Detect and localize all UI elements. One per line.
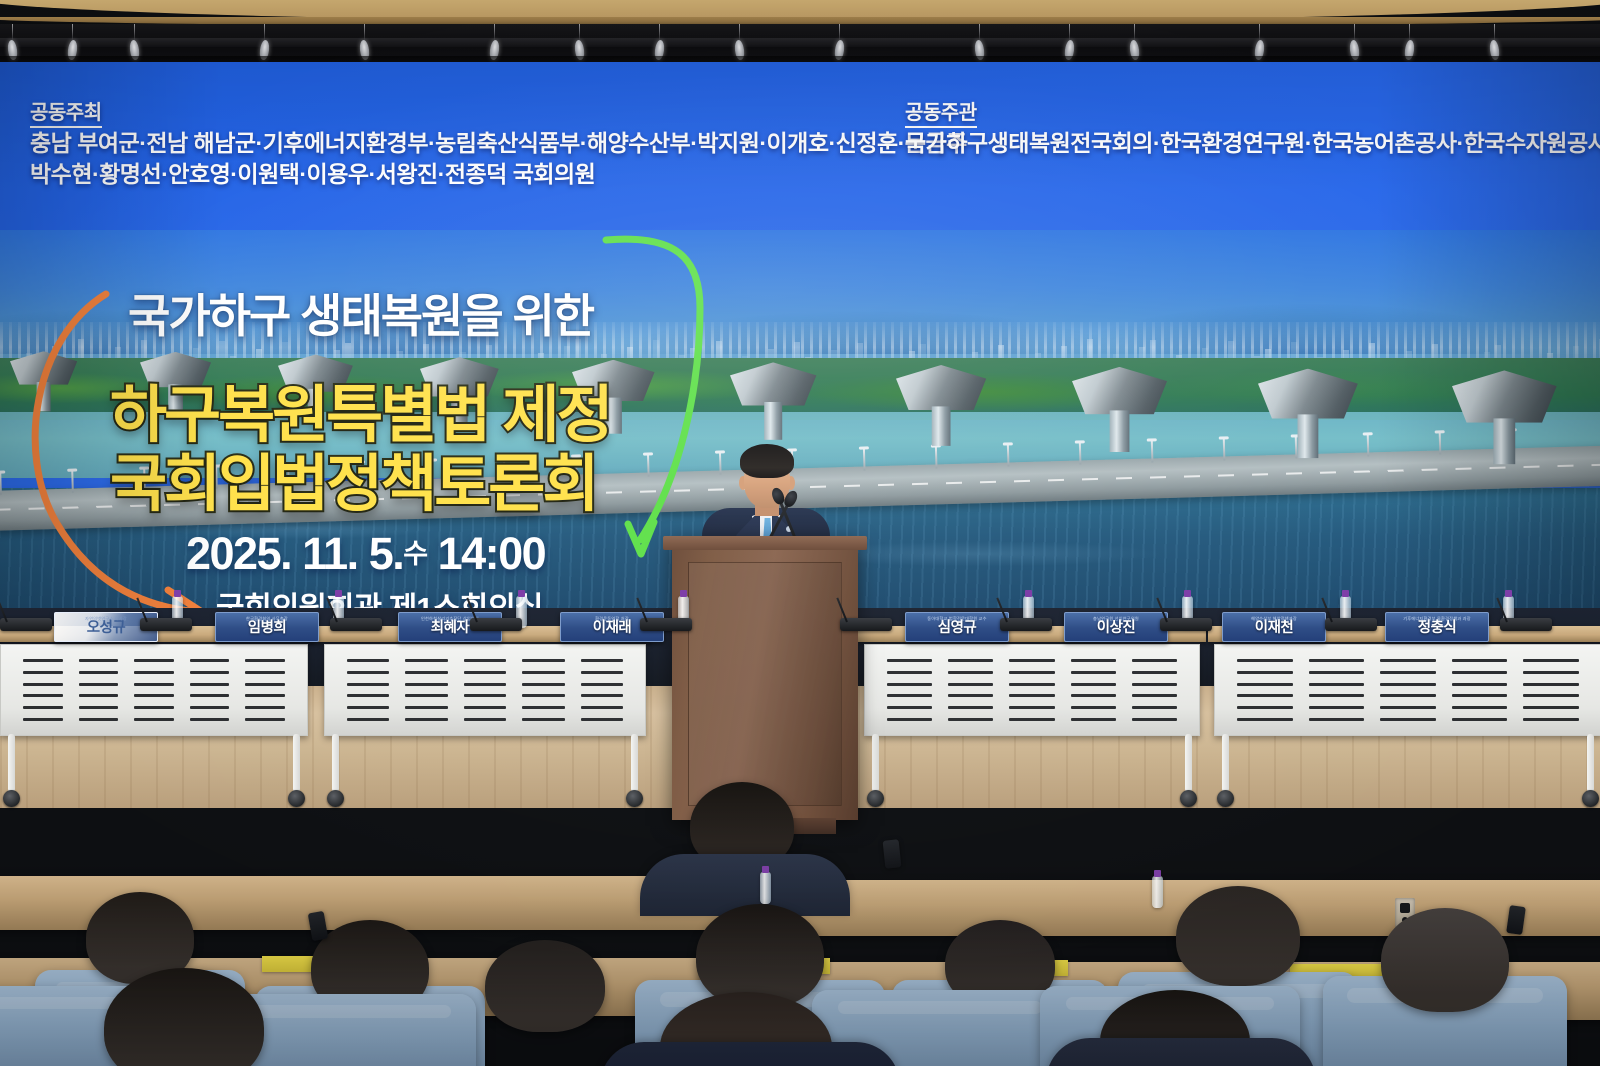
panel-slot-column — [887, 659, 932, 721]
desk-microphone — [140, 618, 192, 631]
slide-title-line-1: 하구복원특별법 제정 — [110, 381, 611, 450]
nameplate-6: 충남연구원 선임연구위원이상진 — [1064, 612, 1168, 642]
rig-wire — [579, 24, 580, 40]
nameplate-name: 이재래 — [593, 621, 632, 636]
nameplate-name: 정충식 — [1418, 621, 1457, 636]
podium-front-panel — [688, 562, 842, 806]
desk-microphone — [470, 618, 522, 631]
host-line-2: 박수현·황명선·안호영·이원택·이용우·서왕진·전종덕 국회의원 — [30, 159, 967, 190]
desk-microphone — [0, 618, 52, 631]
audience-head — [1176, 886, 1300, 986]
desk-microphone — [840, 618, 892, 631]
panel-slot-column — [1237, 659, 1293, 721]
nameplate-org: 동아대학교 법학전문대학원 교수 — [927, 617, 986, 621]
nameplate-org: 해양수산부 해양정책과장 — [1251, 617, 1297, 621]
speaker-hair — [740, 444, 794, 478]
slide-title-line-2: 국회입법정책토론회 — [110, 453, 611, 516]
nameplate-2: 한국환경회의 사무총장임병희 — [215, 612, 319, 642]
audience-head — [485, 940, 605, 1032]
panel-slot-column — [1523, 659, 1579, 721]
panel-slot-column — [347, 659, 389, 721]
desk-microphone — [1500, 618, 1552, 631]
audience-water-bottle — [1152, 876, 1163, 908]
panel-slot-column — [1071, 659, 1116, 721]
audience-area — [0, 780, 1600, 1066]
rig-wire — [1134, 24, 1135, 40]
host-label: 공동주최 — [30, 102, 102, 128]
panel-slot-column — [522, 659, 564, 721]
panel-slot-column — [1309, 659, 1365, 721]
desk-modesty-panel — [324, 644, 646, 736]
rig-wire — [739, 24, 740, 40]
panel-slot-column — [134, 659, 174, 721]
rig-wire — [1259, 24, 1260, 40]
audience-shoulders-front — [1046, 1038, 1316, 1066]
panel-slot-column — [1132, 659, 1177, 721]
nameplate-name: 심영규 — [938, 621, 977, 636]
rig-wire — [839, 24, 840, 40]
nameplate-8: 기후에너지환경부 물환경정책과 과장정충식 — [1385, 612, 1489, 642]
nameplate-org: 자연의벗연구소 이사장 — [85, 617, 127, 621]
host-line-1: 충남 부여군·전남 해남군·기후에너지환경부·농림축산식품부·해양수산부·박지원… — [30, 128, 967, 159]
panel-slot-column — [1009, 659, 1054, 721]
nameplate-name: 임병희 — [248, 621, 287, 636]
podium-top-lip — [663, 536, 867, 550]
slide-datetime: 2025. 11. 5.수 14:00 — [186, 528, 545, 580]
nameplate-org: 환경운동연합 처장 — [595, 617, 629, 621]
slide-time: 14:00 — [438, 528, 546, 579]
desk-microphone — [640, 618, 692, 631]
rig-wire — [364, 24, 365, 40]
audience-phone — [883, 839, 902, 869]
desk-microphone — [1325, 618, 1377, 631]
rig-wire — [1494, 24, 1495, 40]
slide-venue: 국회의원회관 제1소회의실 — [216, 583, 543, 608]
rig-wire — [12, 24, 13, 40]
panel-slot-column — [405, 659, 447, 721]
organizer-label: 공동주관 — [905, 102, 977, 128]
desk-modesty-panel — [0, 644, 308, 736]
organizer-block: 공동주관 국가하구생태복원전국회의·한국환경연구원·한국농어촌공사·한국수자원공… — [905, 102, 1600, 159]
panel-slot-column — [190, 659, 230, 721]
panel-slot-column — [245, 659, 285, 721]
audience-water-bottle — [760, 872, 771, 904]
panel-slot-column — [1452, 659, 1508, 721]
rig-wire — [134, 24, 135, 40]
audience-head — [1381, 908, 1509, 1012]
slide-subtitle: 국가하구 생태복원을 위한 — [128, 280, 593, 346]
host-block: 공동주최 충남 부여군·전남 해남군·기후에너지환경부·농림축산식품부·해양수산… — [30, 102, 967, 189]
panel-slot-column — [79, 659, 119, 721]
head-table-desk — [0, 626, 314, 804]
panel-slot-column — [1380, 659, 1436, 721]
nameplate-5: 동아대학교 법학전문대학원 교수심영규 — [905, 612, 1009, 642]
podium — [672, 536, 858, 820]
desk-microphone — [1160, 618, 1212, 631]
rig-wire — [659, 24, 660, 40]
nameplate-org: 충남연구원 선임연구위원 — [1093, 617, 1139, 621]
nameplate-name: 이상진 — [1097, 621, 1136, 636]
rig-wire — [1354, 24, 1355, 40]
panel-slot-column — [464, 659, 506, 721]
ceiling-lighting-rig — [0, 24, 1600, 62]
rig-bar — [0, 38, 1600, 47]
audience-shoulders-front — [600, 1042, 900, 1066]
slide-date: 2025. 11. 5. — [186, 528, 403, 579]
nameplate-org: 기후에너지환경부 물환경정책과 과장 — [1403, 617, 1471, 621]
slide-main-title: 하구복원특별법 제정 국회입법정책토론회 — [110, 384, 611, 516]
rig-wire — [494, 24, 495, 40]
desk-microphone — [1000, 618, 1052, 631]
rig-wire — [264, 24, 265, 40]
head-table-desk — [858, 626, 1206, 804]
rig-wire — [1069, 24, 1070, 40]
nameplate-name: 오성규 — [87, 621, 126, 636]
organizer-line-1: 국가하구생태복원전국회의·한국환경연구원·한국농어촌공사·한국수자원공사 — [905, 128, 1600, 159]
desk-modesty-panel — [864, 644, 1200, 736]
rig-wire — [72, 24, 73, 40]
desk-microphone — [330, 618, 382, 631]
nameplate-org: 한국환경회의 사무총장 — [246, 617, 288, 621]
nameplate-name: 최혜자 — [431, 621, 470, 636]
slide-day-of-week: 수 — [403, 539, 426, 569]
head-table-desk — [318, 626, 652, 804]
panel-slot-column — [581, 659, 623, 721]
rig-wire — [979, 24, 980, 40]
panel-slot-column — [948, 659, 993, 721]
head-table-desk — [1208, 626, 1600, 804]
nameplate-7: 해양수산부 해양정책과장이재천 — [1222, 612, 1326, 642]
nameplate-name: 이재천 — [1255, 621, 1294, 636]
conference-hall-photo: 공동주최 충남 부여군·전남 해남군·기후에너지환경부·농림축산식품부·해양수산… — [0, 0, 1600, 1066]
rig-wire — [1409, 24, 1410, 40]
panel-slot-column — [23, 659, 63, 721]
desk-modesty-panel — [1214, 644, 1600, 736]
